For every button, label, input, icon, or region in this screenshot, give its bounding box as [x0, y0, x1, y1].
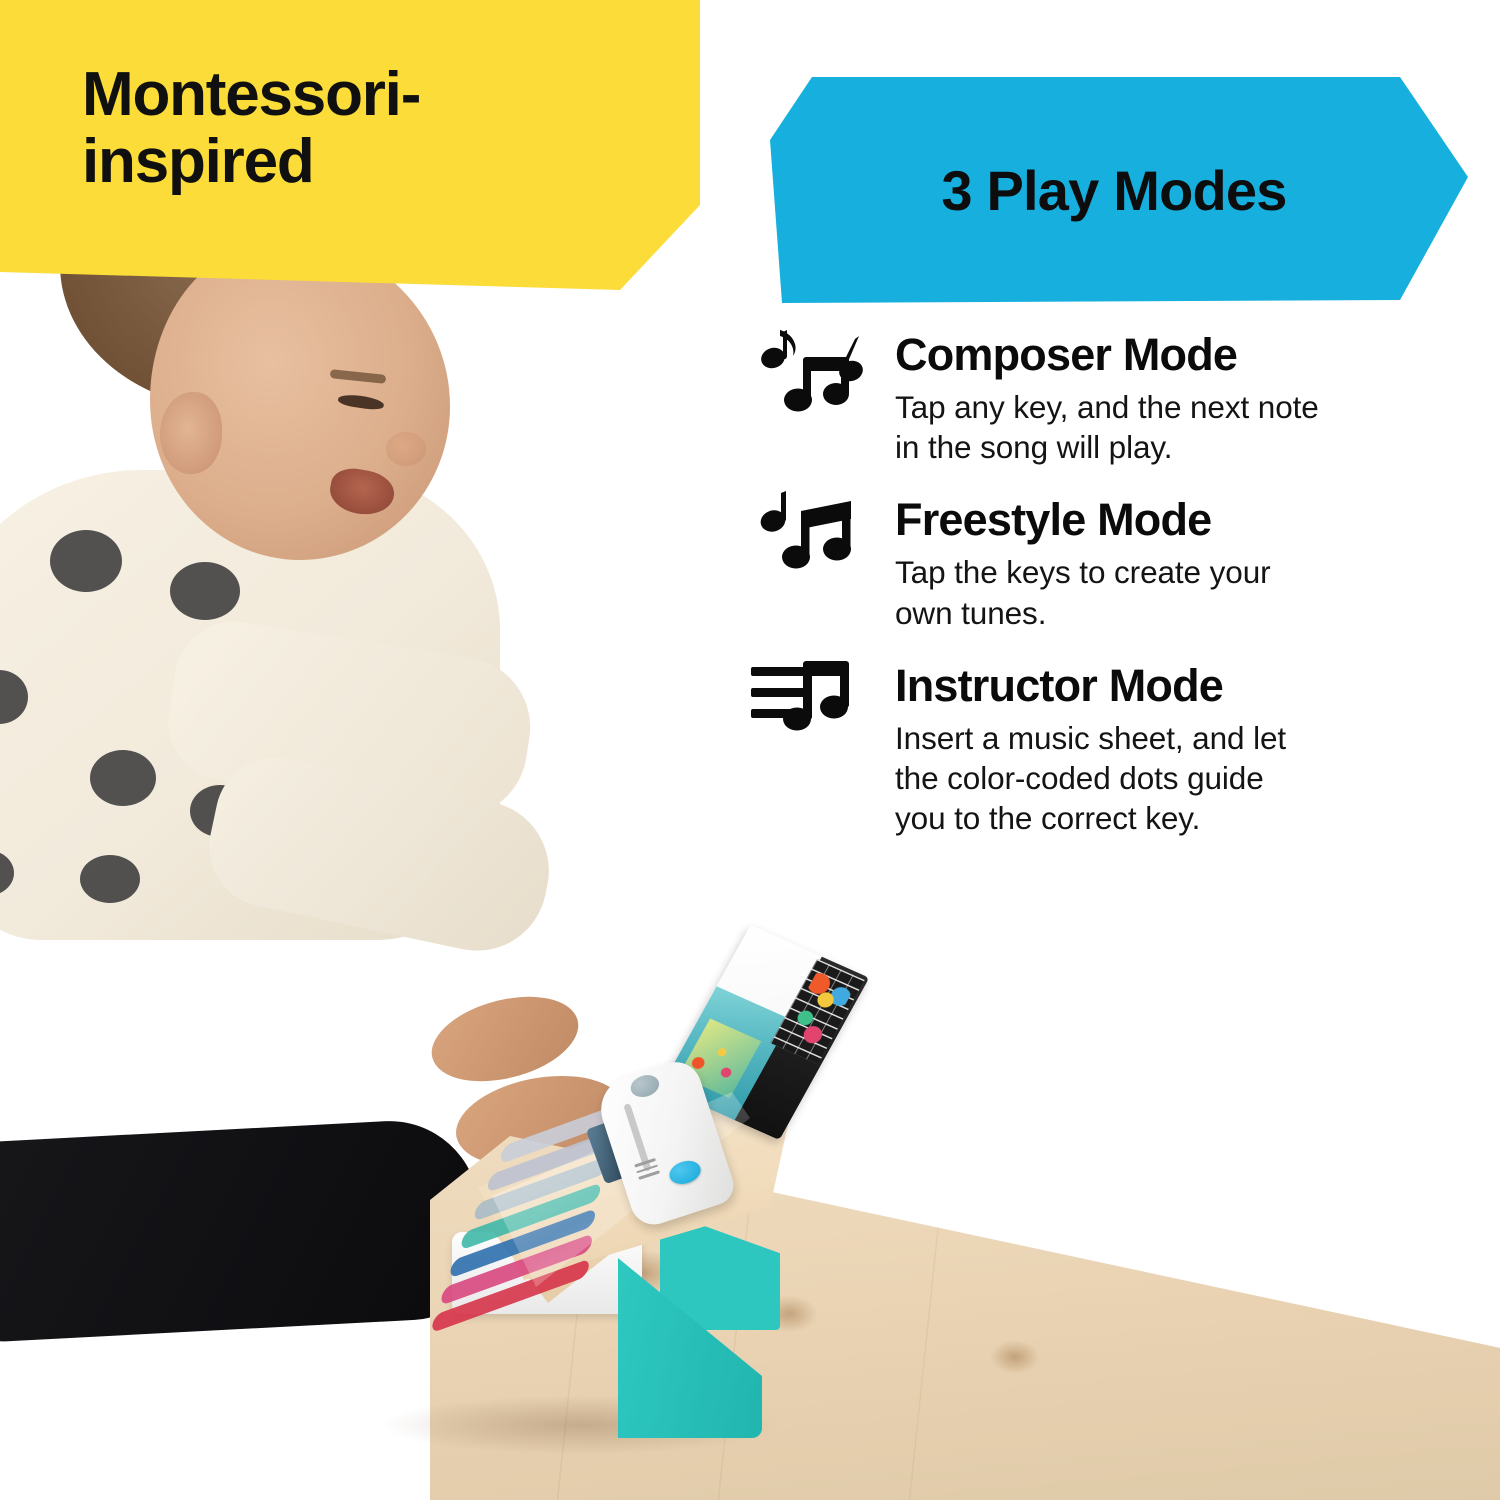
child-nose — [386, 432, 426, 466]
play-modes-list: Composer Mode Tap any key, and the next … — [745, 332, 1485, 865]
music-staff-note-icon — [751, 657, 876, 743]
feature-instructor-title: Instructor Mode — [895, 663, 1485, 710]
play-modes-banner-label: 3 Play Modes — [941, 158, 1286, 223]
montessori-banner-label: Montessori- inspired — [82, 62, 642, 196]
feature-freestyle-mode: Freestyle Mode Tap the keys to create yo… — [745, 497, 1485, 632]
feature-freestyle-description: Tap the keys to create your own tunes. — [895, 552, 1485, 633]
toy-power-button — [666, 1157, 703, 1188]
music-notes-double-icon — [751, 491, 876, 577]
music-notes-triple-icon — [751, 326, 876, 412]
play-modes-banner: 3 Play Modes — [740, 55, 1480, 320]
feature-composer-mode: Composer Mode Tap any key, and the next … — [745, 332, 1485, 467]
toy-mode-marks — [634, 1158, 664, 1191]
toy-knob — [628, 1072, 662, 1101]
feature-instructor-mode: Instructor Mode Insert a music sheet, an… — [745, 663, 1485, 839]
feature-freestyle-title: Freestyle Mode — [895, 497, 1485, 544]
child-ear — [160, 392, 222, 474]
feature-composer-description: Tap any key, and the next note in the so… — [895, 387, 1485, 468]
feature-instructor-description: Insert a music sheet, and let the color-… — [895, 718, 1485, 839]
feature-composer-title: Composer Mode — [895, 332, 1485, 379]
child-leg — [0, 1117, 485, 1344]
montessori-banner: Montessori- inspired — [0, 0, 700, 290]
